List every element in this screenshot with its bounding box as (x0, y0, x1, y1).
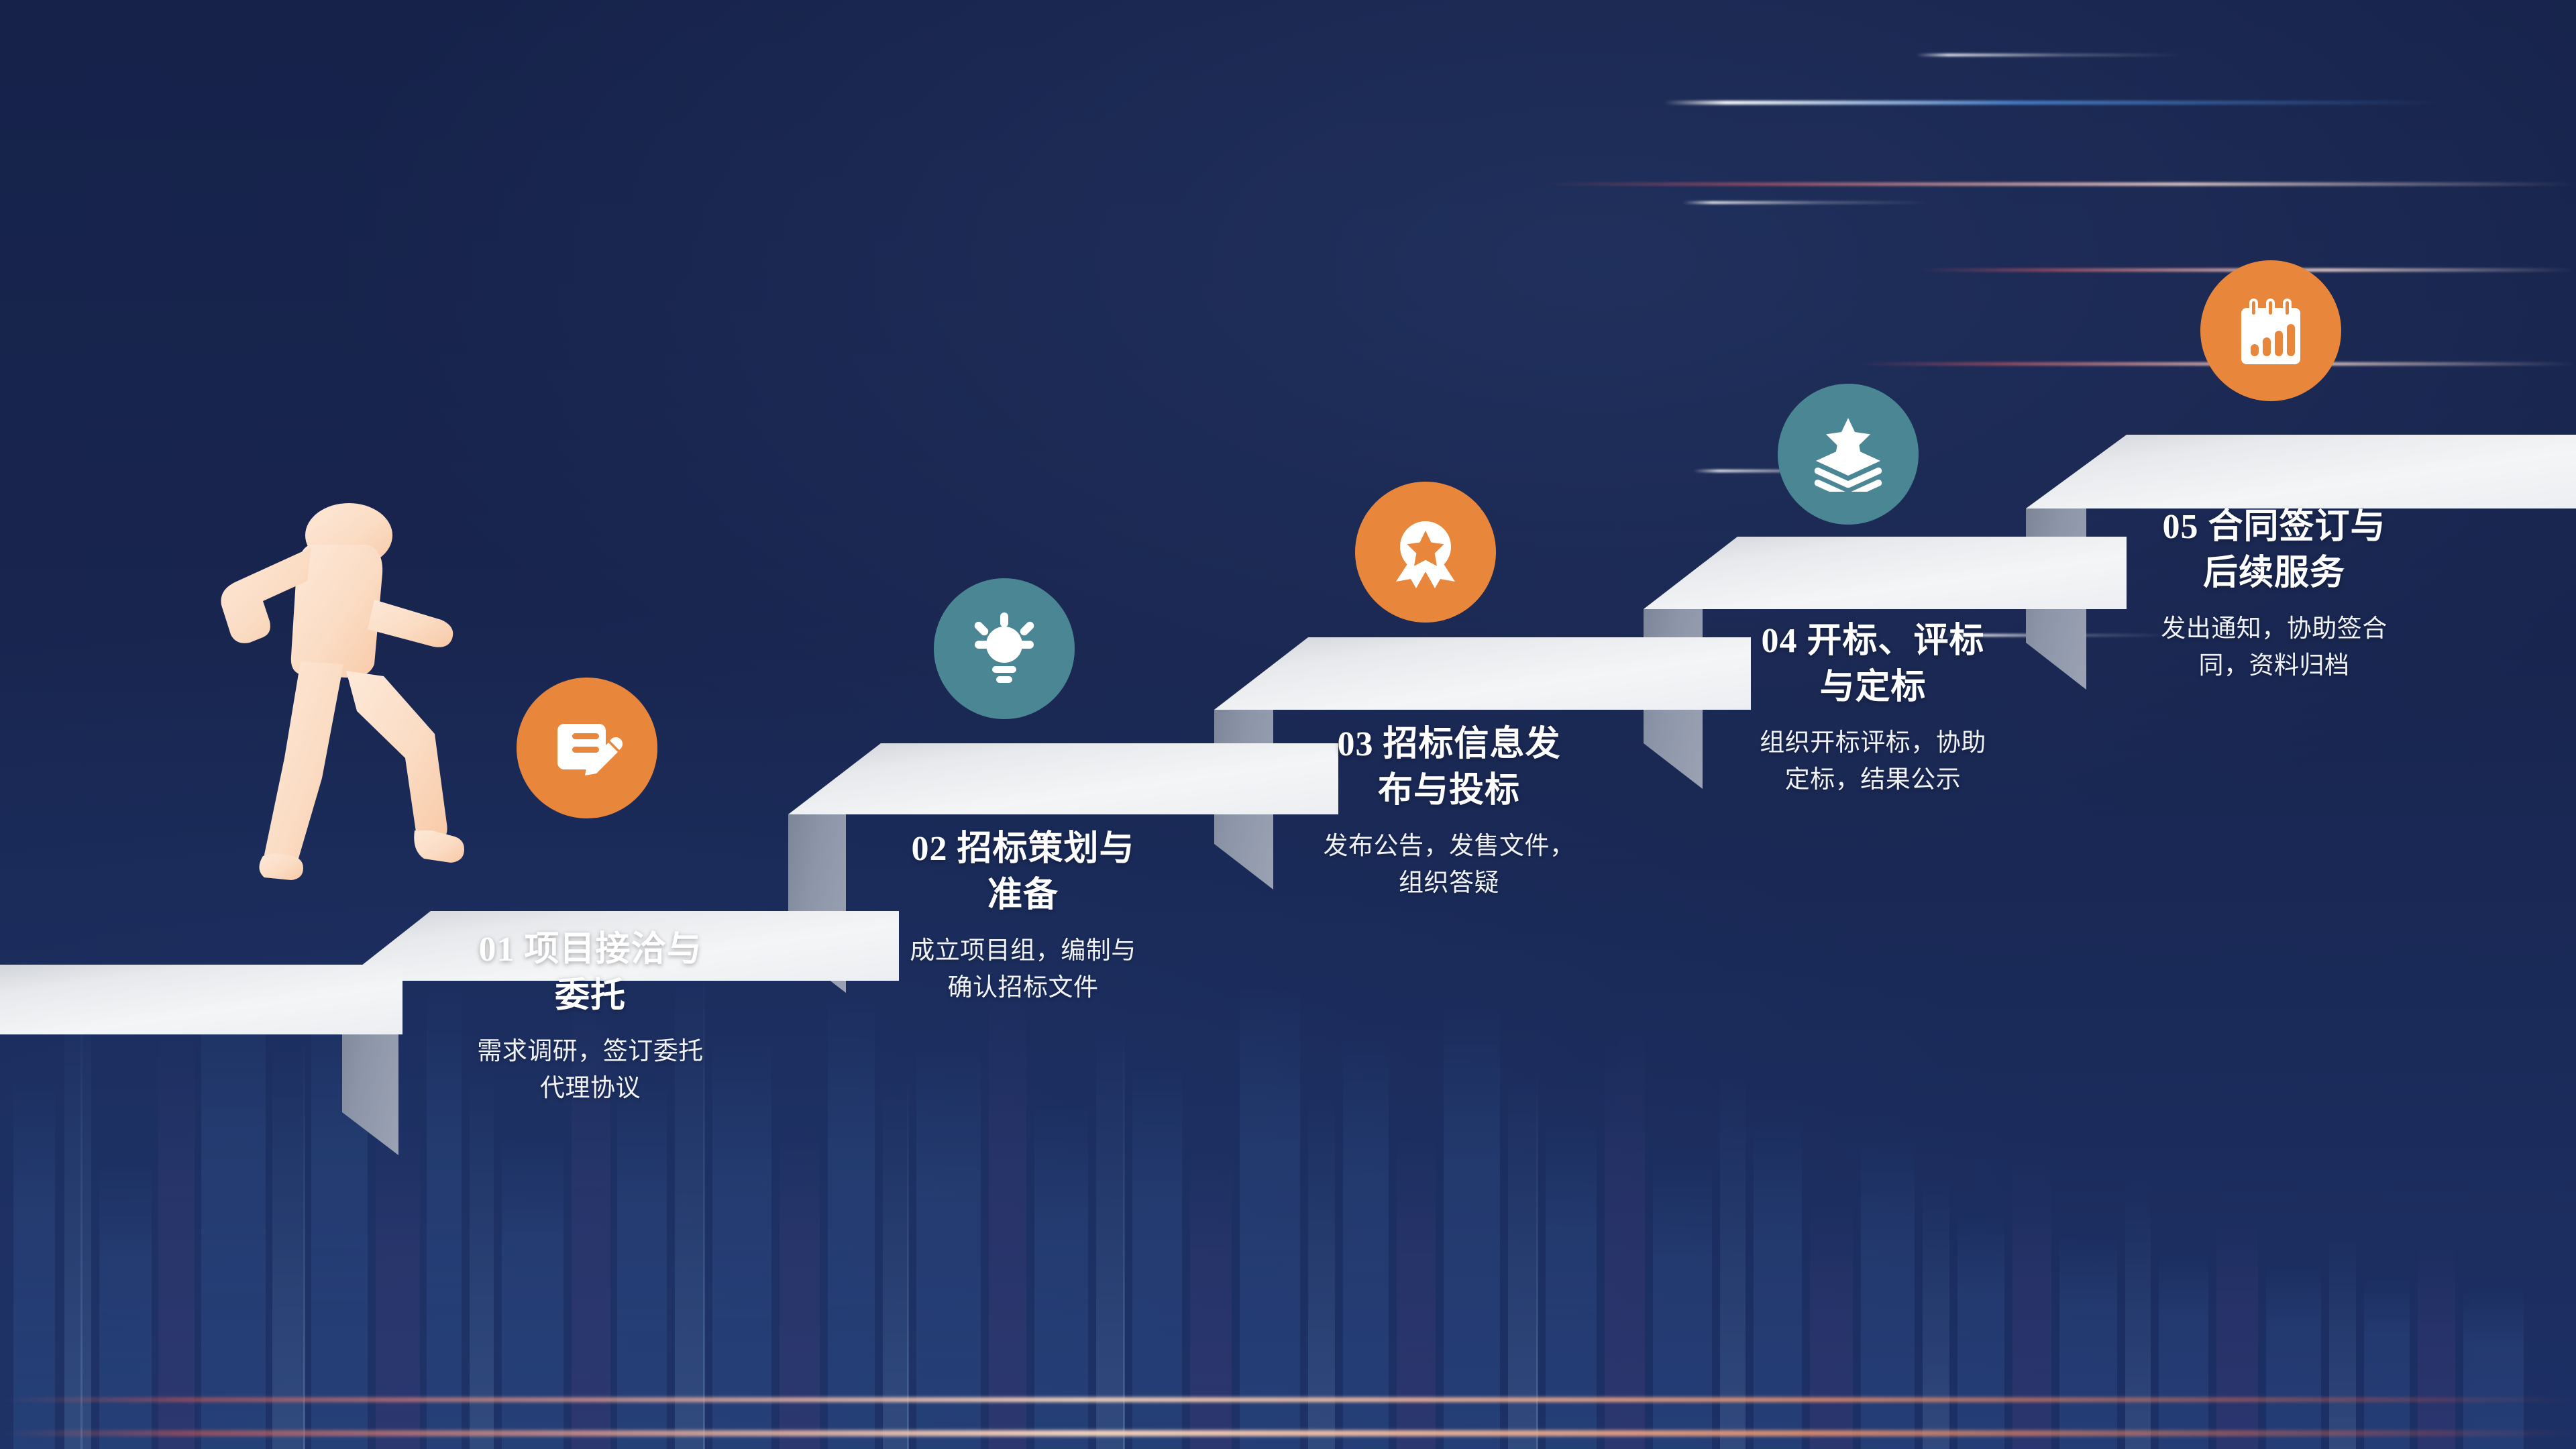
light-streak (1664, 101, 2442, 105)
step-01-desc: 需求调研，签订委托 代理协议 (402, 1034, 778, 1108)
calendar-chart-icon (2233, 293, 2308, 368)
light-streak (1916, 54, 2184, 56)
step-04-title-line2: 与定标 (1685, 665, 2061, 711)
bottom-glow-line (0, 1430, 2576, 1436)
step-01-title-line2: 委托 (402, 973, 778, 1020)
light-streak (1543, 182, 2576, 186)
step-03-desc-line2: 组织答疑 (1261, 865, 1637, 902)
step-04-icon-badge[interactable] (1778, 384, 1919, 525)
step-05-desc-line2: 同，资料归档 (2086, 648, 2462, 685)
step-05-title: 05 合同签订与 后续服务 (2086, 504, 2462, 596)
stair-step-03 (1214, 637, 1751, 710)
stair-step-02 (788, 743, 1338, 814)
walking-person-figure (201, 463, 470, 1000)
stair-step-05 (2026, 435, 2576, 508)
step-05-icon-badge[interactable] (2200, 260, 2341, 401)
step-02-title: 02 招标策划与 准备 (835, 826, 1211, 918)
step-05-title-line2: 后续服务 (2086, 551, 2462, 597)
step-tread (2026, 435, 2576, 508)
lightbulb-icon (967, 611, 1042, 686)
step-tread (1644, 537, 2127, 609)
step-tread (788, 743, 1338, 814)
step-01-icon-badge[interactable] (517, 678, 657, 818)
step-01-text: 01 项目接洽与 委托 需求调研，签订委托 代理协议 (402, 927, 778, 1108)
step-05-text: 05 合同签订与 后续服务 发出通知，协助签合 同，资料归档 (2086, 504, 2462, 685)
step-04-desc: 组织开标评标，协助 定标，结果公示 (1685, 725, 2061, 799)
step-01-title-line1: 01 项目接洽与 (402, 927, 778, 973)
step-04-title-line1: 04 开标、评标 (1685, 619, 2061, 665)
step-02-desc: 成立项目组，编制与 确认招标文件 (835, 933, 1211, 1007)
stair-step-04 (1644, 537, 2127, 609)
step-03-text: 03 招标信息发 布与投标 发布公告，发售文件， 组织答疑 (1261, 722, 1637, 902)
step-02-text: 02 招标策划与 准备 成立项目组，编制与 确认招标文件 (835, 826, 1211, 1007)
document-pencil-icon (549, 710, 625, 786)
step-05-title-line1: 05 合同签订与 (2086, 504, 2462, 551)
step-02-title-line2: 准备 (835, 873, 1211, 919)
step-03-title: 03 招标信息发 布与投标 (1261, 722, 1637, 814)
step-01-title: 01 项目接洽与 委托 (402, 927, 778, 1019)
step-03-title-line1: 03 招标信息发 (1261, 722, 1637, 768)
step-02-icon-badge[interactable] (934, 578, 1075, 719)
step-01-desc-line1: 需求调研，签订委托 (402, 1034, 778, 1071)
step-05-desc-line1: 发出通知，协助签合 (2086, 611, 2462, 648)
step-02-desc-line2: 确认招标文件 (835, 970, 1211, 1007)
bottom-glow-line (0, 1397, 2576, 1402)
step-tread (1214, 637, 1751, 710)
step-04-desc-line1: 组织开标评标，协助 (1685, 725, 2061, 762)
step-03-title-line2: 布与投标 (1261, 768, 1637, 814)
step-04-text: 04 开标、评标 与定标 组织开标评标，协助 定标，结果公示 (1685, 619, 2061, 799)
step-01-desc-line2: 代理协议 (402, 1071, 778, 1108)
step-02-title-line1: 02 招标策划与 (835, 826, 1211, 873)
step-03-icon-badge[interactable] (1355, 482, 1496, 623)
infographic-canvas: 01 项目接洽与 委托 需求调研，签订委托 代理协议 02 招标策划与 准备 成… (0, 0, 2576, 1449)
award-ribbon-icon (1388, 515, 1463, 590)
step-05-desc: 发出通知，协助签合 同，资料归档 (2086, 611, 2462, 685)
step-04-desc-line2: 定标，结果公示 (1685, 762, 2061, 799)
layers-star-icon (1811, 417, 1886, 492)
step-02-desc-line1: 成立项目组，编制与 (835, 933, 1211, 970)
step-03-desc: 发布公告，发售文件， 组织答疑 (1261, 828, 1637, 902)
step-04-title: 04 开标、评标 与定标 (1685, 619, 2061, 710)
step-03-desc-line1: 发布公告，发售文件， (1261, 828, 1637, 865)
light-streak (1682, 201, 1931, 204)
